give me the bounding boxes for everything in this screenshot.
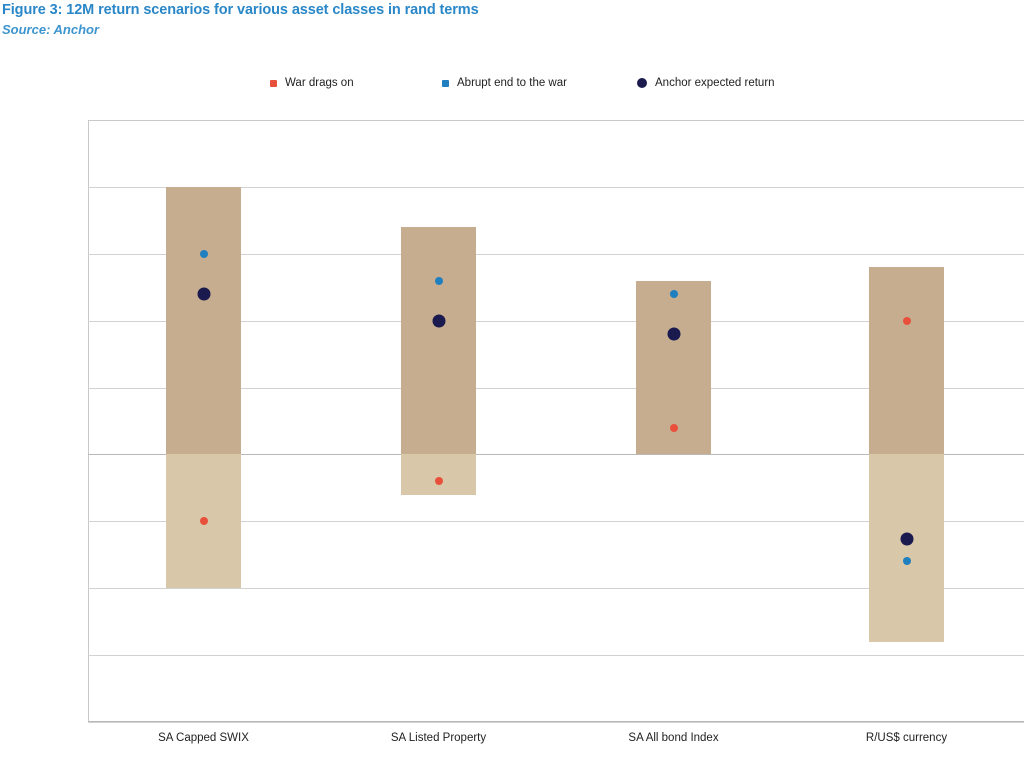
data-point-marker[interactable]	[435, 277, 443, 285]
legend-item[interactable]: Anchor expected return	[637, 77, 837, 89]
legend-item[interactable]: Abrupt end to the war	[442, 77, 637, 89]
data-point-marker[interactable]	[903, 317, 911, 325]
data-point-marker[interactable]	[900, 532, 913, 545]
data-point-marker[interactable]	[670, 290, 678, 298]
page-title: Figure 3: 12M return scenarios for vario…	[0, 0, 1024, 19]
gridline	[88, 722, 1024, 723]
bar-negative-segment	[401, 454, 476, 494]
bar-positive-segment	[401, 227, 476, 454]
bar-positive-segment	[869, 267, 944, 454]
data-point-marker[interactable]	[200, 250, 208, 258]
figure-header: Figure 3: 12M return scenarios for vario…	[0, 0, 1024, 38]
x-axis-tick-label: SA Capped SWIX	[84, 732, 324, 744]
legend-item-label: Anchor expected return	[655, 77, 775, 89]
data-point-marker[interactable]	[435, 477, 443, 485]
legend-item-label: Abrupt end to the war	[457, 77, 567, 89]
legend-item-label: War drags on	[285, 77, 354, 89]
legend-swatch-icon	[270, 80, 277, 87]
data-point-marker[interactable]	[667, 328, 680, 341]
bar-group[interactable]	[166, 120, 241, 722]
bar-group[interactable]	[869, 120, 944, 722]
data-point-marker[interactable]	[670, 424, 678, 432]
chart-source-label: Source: Anchor	[0, 19, 1024, 38]
chart-plot-area: 25%20%15%10%5%0%-5%-10%-15%-20% SA Cappe…	[88, 120, 1024, 722]
data-point-marker[interactable]	[197, 287, 210, 300]
data-point-marker[interactable]	[200, 517, 208, 525]
bar-group[interactable]	[636, 120, 711, 722]
bar-group[interactable]	[401, 120, 476, 722]
x-axis-tick-label: SA Listed Property	[319, 732, 559, 744]
legend-swatch-icon	[442, 80, 449, 87]
chart-legend: War drags onAbrupt end to the warAnchor …	[270, 74, 837, 92]
bar-positive-segment	[166, 187, 241, 455]
legend-swatch-icon	[637, 78, 647, 88]
x-axis-tick-label: R/US$ currency	[787, 732, 1024, 744]
data-point-marker[interactable]	[903, 557, 911, 565]
data-point-marker[interactable]	[432, 314, 445, 327]
bar-negative-segment	[869, 454, 944, 641]
legend-item[interactable]: War drags on	[270, 77, 442, 89]
x-axis-tick-label: SA All bond Index	[554, 732, 794, 744]
